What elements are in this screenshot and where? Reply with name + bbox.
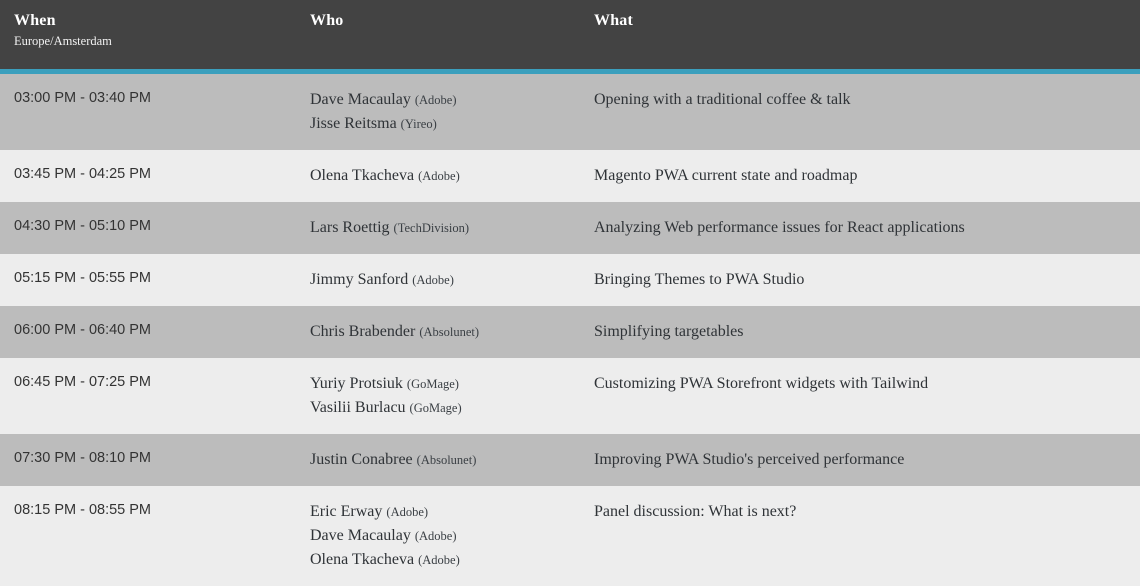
speaker: Lars Roettig (TechDivision) [310, 216, 585, 240]
column-header-who: Who [300, 11, 585, 30]
speaker: Justin Conabree (Absolunet) [310, 448, 585, 472]
speaker: Yuriy Protsiuk (GoMage) [310, 372, 585, 396]
column-header-who-label: Who [310, 11, 585, 30]
speaker: Jisse Reitsma (Yireo) [310, 112, 585, 136]
speaker-name: Dave Macaulay [310, 527, 411, 544]
session-title: Panel discussion: What is next? [585, 500, 1140, 524]
speaker-organization: (Adobe) [415, 93, 457, 107]
speaker-name: Eric Erway [310, 503, 382, 520]
session-time: 04:30 PM - 05:10 PM [0, 216, 300, 236]
speaker-name: Olena Tkacheva [310, 551, 414, 568]
speaker-name: Jimmy Sanford [310, 271, 408, 288]
speaker: Dave Macaulay (Adobe) [310, 524, 585, 548]
speaker-organization: (GoMage) [407, 377, 459, 391]
session-time: 06:00 PM - 06:40 PM [0, 320, 300, 340]
speaker-organization: (Adobe) [418, 553, 460, 567]
table-row: 06:45 PM - 07:25 PMYuriy Protsiuk (GoMag… [0, 358, 1140, 434]
session-speakers: Jimmy Sanford (Adobe) [300, 268, 585, 292]
speaker-name: Jisse Reitsma [310, 115, 397, 132]
session-speakers: Lars Roettig (TechDivision) [300, 216, 585, 240]
table-header-row: When Europe/Amsterdam Who What [0, 0, 1140, 69]
session-speakers: Olena Tkacheva (Adobe) [300, 164, 585, 188]
speaker-name: Lars Roettig [310, 219, 390, 236]
speaker: Jimmy Sanford (Adobe) [310, 268, 585, 292]
session-time: 08:15 PM - 08:55 PM [0, 500, 300, 520]
session-speakers: Justin Conabree (Absolunet) [300, 448, 585, 472]
table-row: 04:30 PM - 05:10 PMLars Roettig (TechDiv… [0, 202, 1140, 254]
table-row: 06:00 PM - 06:40 PMChris Brabender (Abso… [0, 306, 1140, 358]
session-time: 06:45 PM - 07:25 PM [0, 372, 300, 392]
column-header-when-timezone: Europe/Amsterdam [14, 33, 300, 49]
session-speakers: Dave Macaulay (Adobe)Jisse Reitsma (Yire… [300, 88, 585, 136]
speaker-organization: (GoMage) [410, 401, 462, 415]
session-title: Customizing PWA Storefront widgets with … [585, 372, 1140, 396]
session-title: Simplifying targetables [585, 320, 1140, 344]
column-header-when-label: When [14, 11, 300, 30]
session-time: 03:45 PM - 04:25 PM [0, 164, 300, 184]
speaker-name: Justin Conabree [310, 451, 413, 468]
session-time: 07:30 PM - 08:10 PM [0, 448, 300, 468]
column-header-what-label: What [594, 11, 1140, 30]
session-title: Analyzing Web performance issues for Rea… [585, 216, 1140, 240]
speaker: Olena Tkacheva (Adobe) [310, 548, 585, 572]
speaker-name: Vasilii Burlacu [310, 399, 406, 416]
speaker: Vasilii Burlacu (GoMage) [310, 396, 585, 420]
speaker-organization: (Adobe) [386, 505, 428, 519]
speaker: Eric Erway (Adobe) [310, 500, 585, 524]
table-row: 03:00 PM - 03:40 PMDave Macaulay (Adobe)… [0, 74, 1140, 150]
session-title: Opening with a traditional coffee & talk [585, 88, 1140, 112]
session-title: Bringing Themes to PWA Studio [585, 268, 1140, 292]
speaker: Dave Macaulay (Adobe) [310, 88, 585, 112]
speaker-name: Yuriy Protsiuk [310, 375, 403, 392]
table-row: 03:45 PM - 04:25 PMOlena Tkacheva (Adobe… [0, 150, 1140, 202]
table-row: 05:15 PM - 05:55 PMJimmy Sanford (Adobe)… [0, 254, 1140, 306]
table-row: 08:15 PM - 08:55 PMEric Erway (Adobe)Dav… [0, 486, 1140, 586]
speaker-organization: (Absolunet) [417, 453, 477, 467]
column-header-what: What [585, 11, 1140, 30]
speaker-name: Dave Macaulay [310, 91, 411, 108]
column-header-when: When Europe/Amsterdam [0, 11, 300, 49]
speaker: Olena Tkacheva (Adobe) [310, 164, 585, 188]
session-time: 05:15 PM - 05:55 PM [0, 268, 300, 288]
session-title: Improving PWA Studio's perceived perform… [585, 448, 1140, 472]
speaker-organization: (Yireo) [401, 117, 437, 131]
session-speakers: Yuriy Protsiuk (GoMage)Vasilii Burlacu (… [300, 372, 585, 420]
speaker-organization: (TechDivision) [394, 221, 470, 235]
speaker: Chris Brabender (Absolunet) [310, 320, 585, 344]
table-body: 03:00 PM - 03:40 PMDave Macaulay (Adobe)… [0, 74, 1140, 586]
schedule-table: When Europe/Amsterdam Who What 03:00 PM … [0, 0, 1140, 521]
session-time: 03:00 PM - 03:40 PM [0, 88, 300, 108]
session-speakers: Chris Brabender (Absolunet) [300, 320, 585, 344]
table-row: 07:30 PM - 08:10 PMJustin Conabree (Abso… [0, 434, 1140, 486]
session-speakers: Eric Erway (Adobe)Dave Macaulay (Adobe)O… [300, 500, 585, 572]
speaker-organization: (Adobe) [412, 273, 454, 287]
speaker-organization: (Adobe) [415, 529, 457, 543]
session-title: Magento PWA current state and roadmap [585, 164, 1140, 188]
speaker-organization: (Adobe) [418, 169, 460, 183]
speaker-name: Olena Tkacheva [310, 167, 414, 184]
speaker-organization: (Absolunet) [419, 325, 479, 339]
speaker-name: Chris Brabender [310, 323, 415, 340]
